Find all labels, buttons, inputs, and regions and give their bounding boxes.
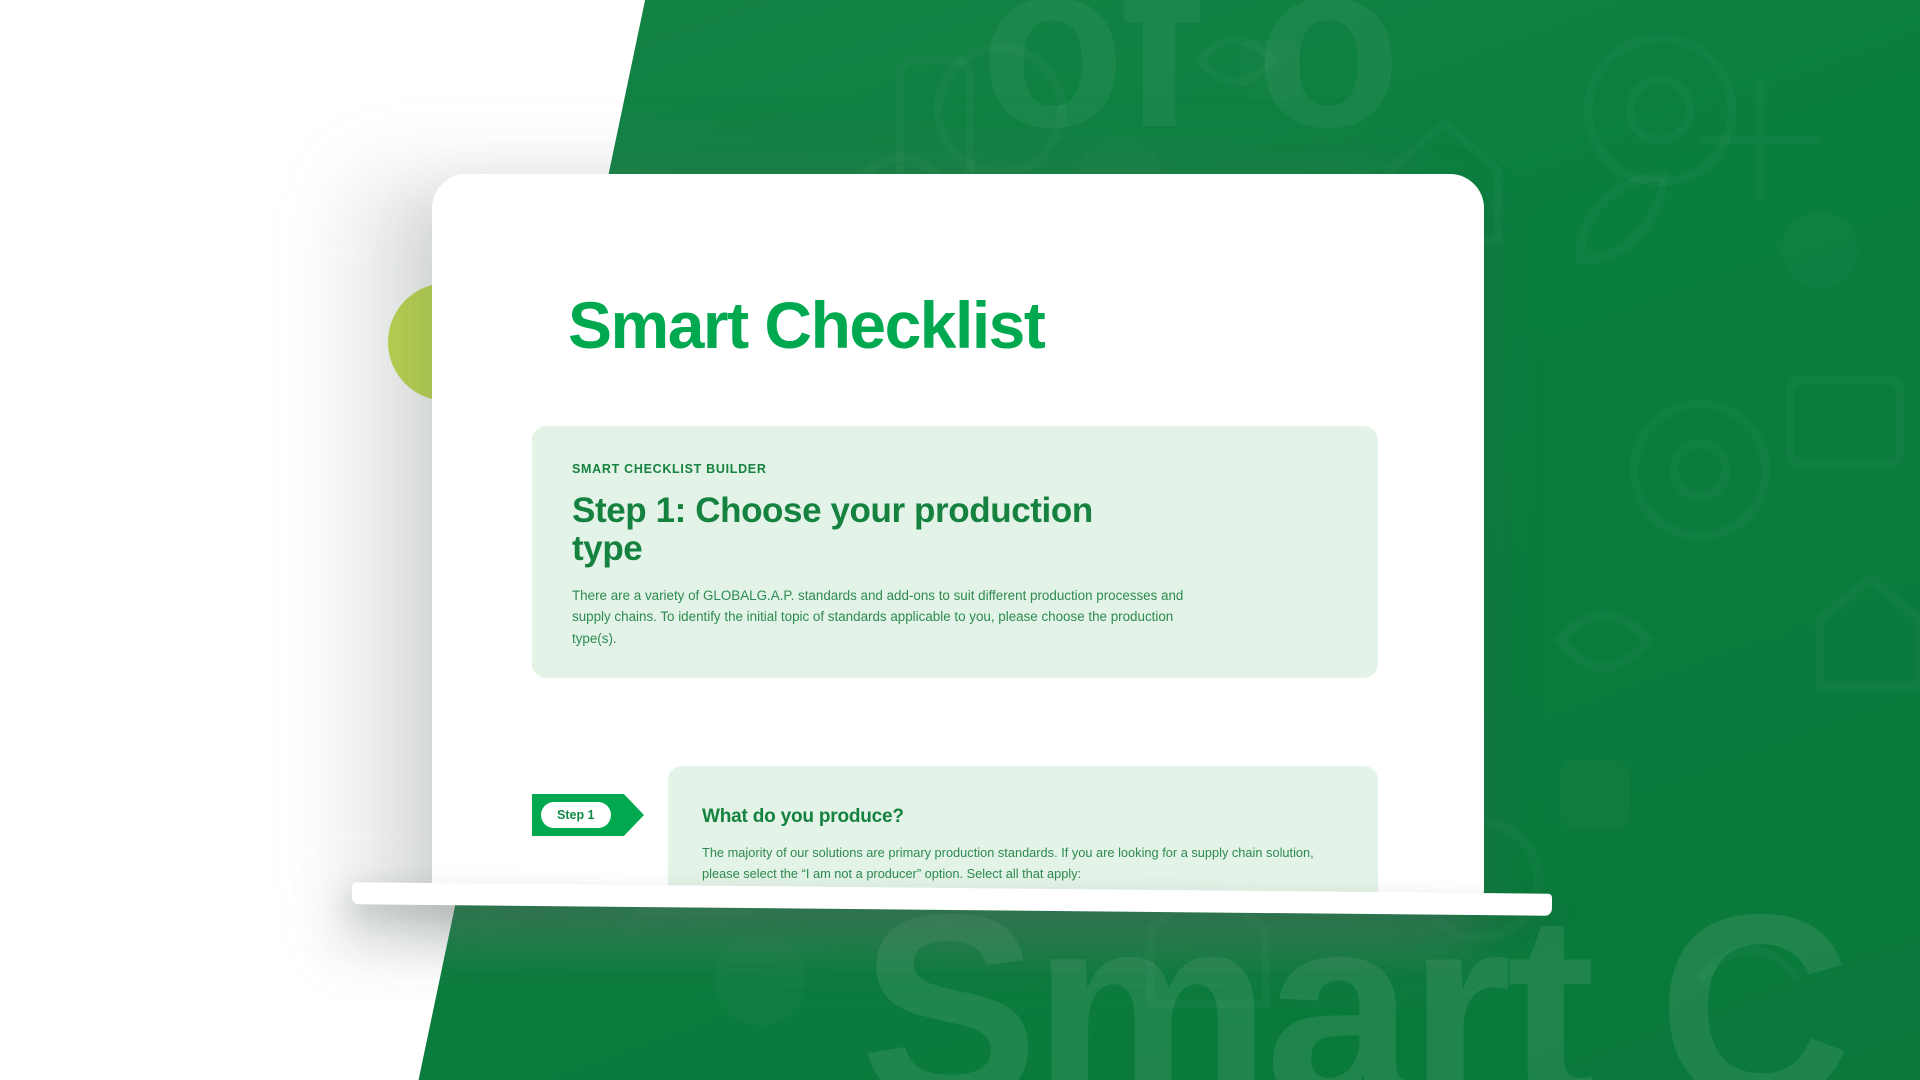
webpage-content: Smart Checklist SMART CHECKLIST BUILDER … bbox=[448, 196, 1468, 900]
question-card: What do you produce? The majority of our… bbox=[668, 766, 1378, 900]
screenshot-stage: of o Smart C Smart Checklist SMART CHECK… bbox=[0, 0, 1920, 1080]
laptop-screen: Smart Checklist SMART CHECKLIST BUILDER … bbox=[448, 196, 1468, 900]
info-card-heading: Step 1: Choose your production type bbox=[572, 492, 1132, 568]
step-badge: Step 1 bbox=[532, 794, 644, 836]
page-title: Smart Checklist bbox=[568, 292, 1044, 358]
question-body: The majority of our solutions are primar… bbox=[702, 843, 1344, 884]
info-card-body: There are a variety of GLOBALG.A.P. stan… bbox=[572, 585, 1212, 650]
info-card: SMART CHECKLIST BUILDER Step 1: Choose y… bbox=[532, 426, 1378, 678]
step-badge-label: Step 1 bbox=[541, 802, 611, 828]
question-title: What do you produce? bbox=[702, 806, 1344, 828]
laptop-device: Smart Checklist SMART CHECKLIST BUILDER … bbox=[432, 174, 1484, 900]
info-card-eyebrow: SMART CHECKLIST BUILDER bbox=[572, 462, 1338, 476]
